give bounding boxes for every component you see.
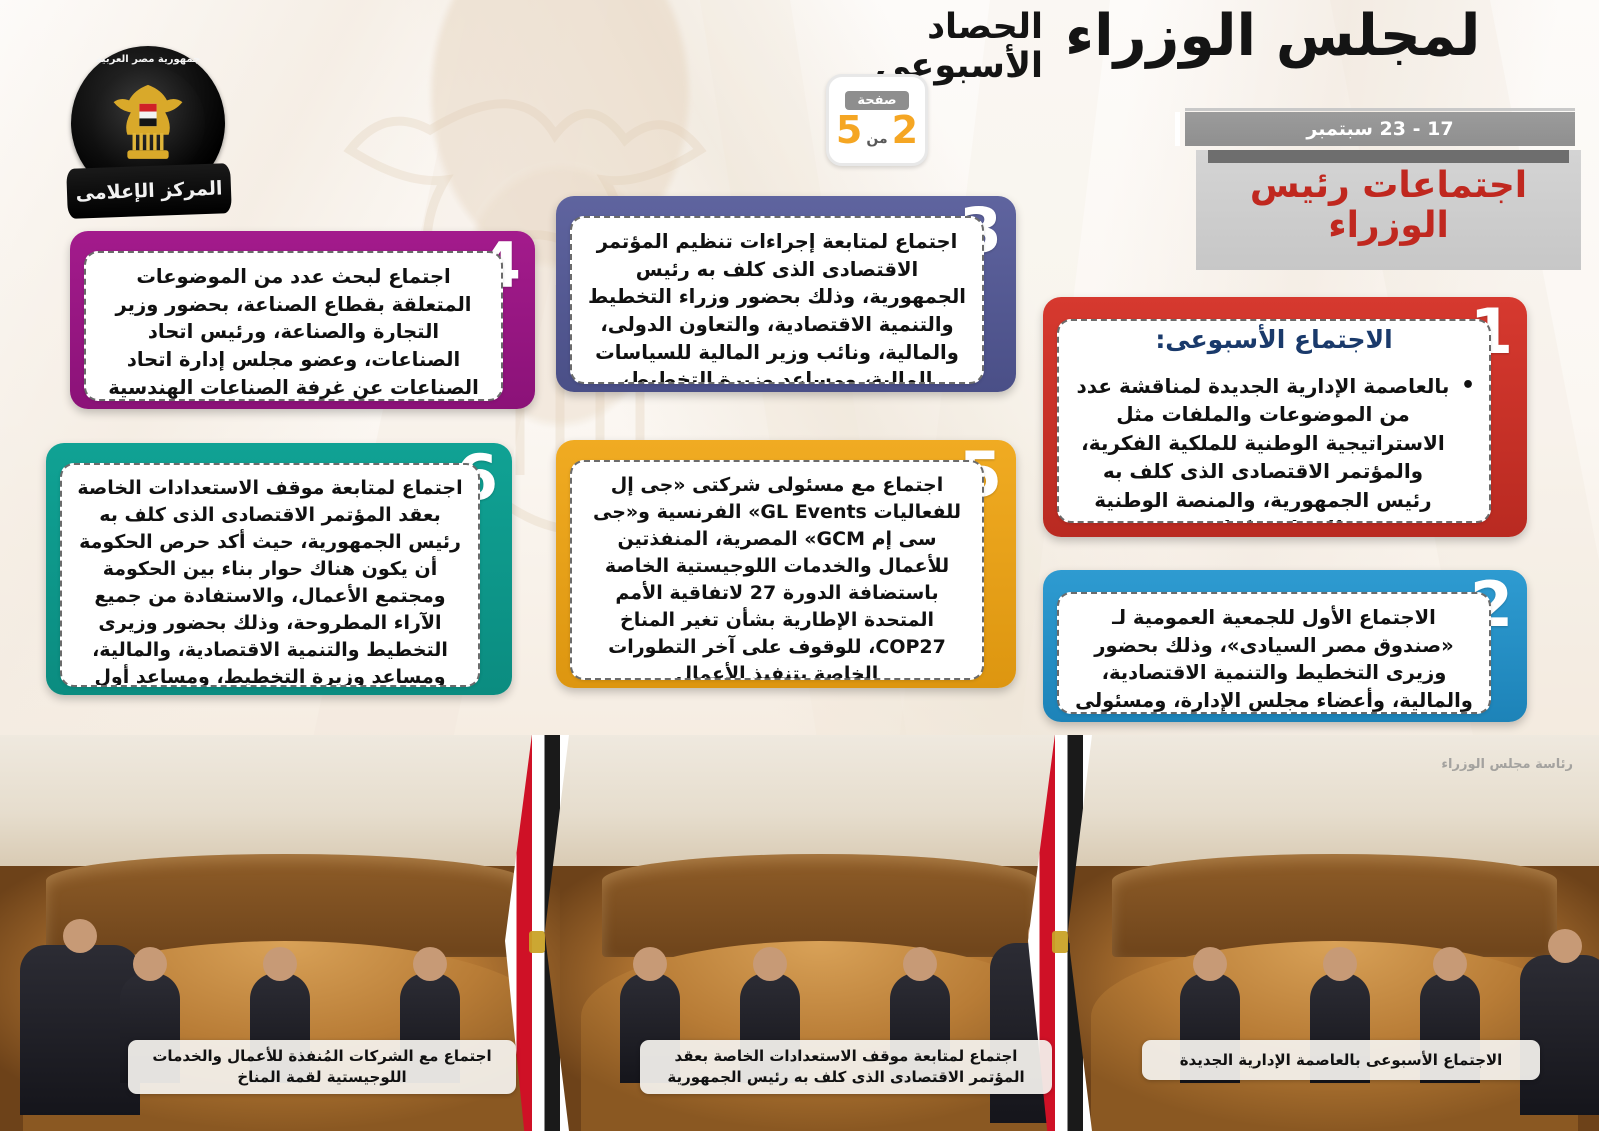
card-text-2: الاجتماع الأول للجمعية العمومية لـ «صندو… <box>1059 594 1489 714</box>
section-title-line2: الوزراء <box>1196 206 1581 246</box>
card-panel-3: اجتماع لمتابعة إجراءات تنظيم المؤتمر الا… <box>570 216 984 384</box>
page-of-word: من <box>866 131 887 147</box>
meeting-card-1[interactable]: 1 الاجتماع الأسبوعى: • بالعاصمة الإدارية… <box>1043 297 1527 537</box>
card-text-1: بالعاصمة الإدارية الجديدة لمناقشة عدد من… <box>1073 372 1453 523</box>
meeting-card-4[interactable]: 4 اجتماع لبحث عدد من الموضوعات المتعلقة … <box>70 231 535 409</box>
logo-ribbon-text: المركز الإعلامى <box>75 177 223 204</box>
card-headline-1: الاجتماع الأسبوعى: <box>1059 325 1489 354</box>
eagle-of-saladin-icon <box>105 78 191 164</box>
title-small-line1: الحصاد <box>875 8 1043 47</box>
logo-arc-top-text: جمهورية مصر العربية <box>63 54 233 65</box>
page-counter-numbers: 2 من 5 <box>836 111 918 149</box>
wall-emblem-label: رئاسة مجلس الوزراء <box>1441 757 1573 772</box>
logo-ribbon: المركز الإعلامى <box>66 163 232 219</box>
card-text-3: اجتماع لمتابعة إجراءات تنظيم المؤتمر الا… <box>572 218 982 384</box>
meeting-card-5[interactable]: 5 اجتماع مع مسئولى شركتى «جى إل للفعاليا… <box>556 440 1016 688</box>
page-total: 5 <box>836 111 862 149</box>
page-current: 2 <box>892 111 918 149</box>
card-bullet-1: • <box>1461 372 1475 400</box>
meeting-card-2[interactable]: 2 الاجتماع الأول للجمعية العمومية لـ «صن… <box>1043 570 1527 722</box>
photo-caption-2: اجتماع لمتابعة موقف الاستعدادات الخاصة ب… <box>640 1040 1052 1094</box>
photo-caption-3: الاجتماع الأسبوعى بالعاصمة الإدارية الجد… <box>1142 1040 1540 1080</box>
date-range-text: 17 - 23 سبتمبر <box>1306 118 1453 140</box>
card-panel-4: اجتماع لبحث عدد من الموضوعات المتعلقة بق… <box>84 251 503 401</box>
section-header-pm-meetings: اجتماعات رئيس الوزراء <box>1196 150 1581 270</box>
cabinet-media-center-logo: جمهورية مصر العربية رئاسة مجلس الوزراء ا… <box>63 42 235 218</box>
card-text-5: اجتماع مع مسئولى شركتى «جى إل للفعاليات … <box>572 462 982 680</box>
card-body-1: • بالعاصمة الإدارية الجديدة لمناقشة عدد … <box>1059 362 1489 523</box>
card-panel-1: الاجتماع الأسبوعى: • بالعاصمة الإدارية ا… <box>1057 319 1491 523</box>
title-big: لمجلس الوزراء <box>1065 8 1480 65</box>
photo-caption-1: اجتماع مع الشركات المُنفذة للأعمال والخد… <box>128 1040 516 1094</box>
card-panel-6: اجتماع لمتابعة موقف الاستعدادات الخاصة ب… <box>60 463 480 687</box>
section-title-line1: اجتماعات رئيس <box>1196 166 1581 206</box>
page-counter-badge: صفحة 2 من 5 <box>826 74 928 166</box>
card-panel-5: اجتماع مع مسئولى شركتى «جى إل للفعاليات … <box>570 460 984 680</box>
card-text-6: اجتماع لمتابعة موقف الاستعدادات الخاصة ب… <box>62 465 478 687</box>
title-divider-rule <box>1185 108 1575 111</box>
date-range-bar: 17 - 23 سبتمبر <box>1185 112 1575 146</box>
meeting-card-3[interactable]: 3 اجتماع لمتابعة إجراءات تنظيم المؤتمر ا… <box>556 196 1016 392</box>
section-header-text: اجتماعات رئيس الوزراء <box>1196 166 1581 247</box>
page-title: لمجلس الوزراء الحصاد الأسبوعى <box>875 8 1575 86</box>
card-text-4: اجتماع لبحث عدد من الموضوعات المتعلقة بق… <box>86 253 501 401</box>
meeting-card-6[interactable]: 6 اجتماع لمتابعة موقف الاستعدادات الخاصة… <box>46 443 512 695</box>
card-panel-2: الاجتماع الأول للجمعية العمومية لـ «صندو… <box>1057 592 1491 714</box>
